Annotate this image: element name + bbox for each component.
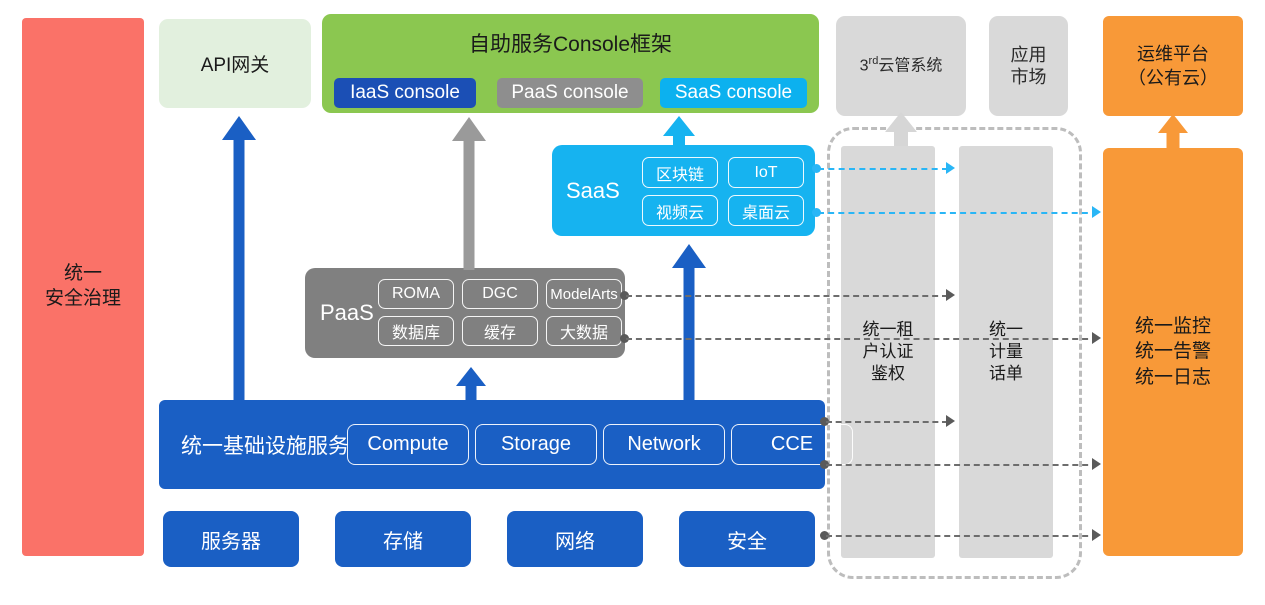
infra-item-storage[interactable]: Storage bbox=[475, 424, 597, 465]
flow-arrowhead-infra-auth bbox=[946, 415, 955, 427]
paas-item-cache[interactable]: 缓存 bbox=[462, 316, 538, 346]
metering-line3: 话单 bbox=[989, 363, 1023, 385]
api-gateway-box[interactable]: API网关 bbox=[159, 19, 311, 108]
infra-item-cce[interactable]: CCE bbox=[731, 424, 853, 465]
ops-body-line2: 统一告警 bbox=[1135, 339, 1211, 365]
third-party-cloud-mgmt-box[interactable]: 3rd云管系统 bbox=[836, 16, 966, 116]
infra-block-label: 统一基础设施服务 bbox=[181, 400, 349, 489]
arrow-ops-body-to-header bbox=[1157, 114, 1189, 150]
saas-item-video-cloud-label: 视频云 bbox=[656, 199, 704, 223]
security-label-line1: 统一 bbox=[64, 262, 102, 287]
paas-item-dgc-label: DGC bbox=[482, 285, 518, 303]
arrow-paas-to-console bbox=[452, 117, 486, 270]
flow-arrowhead-paas-auth bbox=[946, 289, 955, 301]
tenant-auth-line2: 户认证 bbox=[863, 341, 914, 363]
arrow-infra-to-saas bbox=[672, 244, 706, 404]
flow-arrowhead-paas-ops bbox=[1092, 332, 1101, 344]
hardware-item-security[interactable]: 安全 bbox=[679, 511, 815, 567]
flow-infra-to-ops-platform bbox=[826, 464, 1098, 466]
saas-console-label: SaaS console bbox=[675, 82, 792, 104]
ops-platform-header-box[interactable]: 运维平台 （公有云） bbox=[1103, 16, 1243, 116]
paas-block: PaaS ROMA DGC ModelArts 数据库 缓存 大数据 bbox=[305, 268, 625, 358]
third-party-cloud-label: 3rd云管系统 bbox=[860, 55, 943, 76]
infra-item-network-label: Network bbox=[627, 433, 700, 456]
paas-item-roma-label: ROMA bbox=[392, 285, 440, 303]
paas-item-modelarts[interactable]: ModelArts bbox=[546, 279, 622, 309]
ops-platform-title-line2: （公有云） bbox=[1128, 66, 1218, 90]
infra-item-compute-label: Compute bbox=[367, 433, 448, 456]
hardware-item-server[interactable]: 服务器 bbox=[163, 511, 299, 567]
unified-tenant-auth-column: 统一租 户认证 鉴权 bbox=[841, 146, 935, 558]
saas-item-desktop-cloud-label: 桌面云 bbox=[742, 199, 790, 223]
saas-item-blockchain-label: 区块链 bbox=[656, 161, 704, 185]
saas-item-blockchain[interactable]: 区块链 bbox=[642, 157, 718, 188]
ops-body-line1: 统一监控 bbox=[1135, 314, 1211, 340]
hardware-item-server-label: 服务器 bbox=[201, 525, 261, 554]
iaas-console-chip[interactable]: IaaS console bbox=[334, 78, 476, 108]
paas-item-database[interactable]: 数据库 bbox=[378, 316, 454, 346]
saas-item-iot-label: IoT bbox=[754, 164, 777, 182]
ops-platform-body-column: 统一监控 统一告警 统一日志 bbox=[1103, 148, 1243, 556]
paas-item-dgc[interactable]: DGC bbox=[462, 279, 538, 309]
self-service-console-frame: 自助服务Console框架 IaaS console PaaS console … bbox=[322, 14, 819, 113]
saas-item-iot[interactable]: IoT bbox=[728, 157, 804, 188]
saas-console-chip[interactable]: SaaS console bbox=[660, 78, 807, 108]
console-frame-title: 自助服务Console框架 bbox=[322, 28, 819, 58]
flow-paas-to-tenant-auth bbox=[626, 295, 948, 297]
flow-infra-to-tenant-auth bbox=[826, 421, 948, 423]
hardware-item-storage[interactable]: 存储 bbox=[335, 511, 471, 567]
unified-infrastructure-block: 统一基础设施服务 Compute Storage Network CCE bbox=[159, 400, 825, 489]
arrow-infra-to-paas bbox=[456, 367, 486, 403]
unified-metering-column: 统一 计量 话单 bbox=[959, 146, 1053, 558]
flow-saas-to-tenant-auth bbox=[818, 168, 948, 170]
flow-arrowhead-saas-auth bbox=[946, 162, 955, 174]
infra-item-network[interactable]: Network bbox=[603, 424, 725, 465]
paas-console-chip[interactable]: PaaS console bbox=[497, 78, 643, 108]
hardware-item-security-label: 安全 bbox=[727, 525, 767, 554]
tenant-auth-line3: 鉴权 bbox=[871, 363, 905, 385]
flow-arrowhead-saas-ops bbox=[1092, 206, 1101, 218]
saas-item-video-cloud[interactable]: 视频云 bbox=[642, 195, 718, 226]
metering-line2: 计量 bbox=[989, 341, 1023, 363]
arrow-infra-to-api-gateway bbox=[222, 116, 256, 404]
app-market-box[interactable]: 应用 市场 bbox=[989, 16, 1068, 116]
hardware-item-storage-label: 存储 bbox=[383, 525, 423, 554]
paas-item-database-label: 数据库 bbox=[392, 319, 440, 343]
infra-item-cce-label: CCE bbox=[771, 433, 813, 456]
flow-arrowhead-hardware-ops bbox=[1092, 529, 1101, 541]
paas-item-roma[interactable]: ROMA bbox=[378, 279, 454, 309]
saas-item-desktop-cloud[interactable]: 桌面云 bbox=[728, 195, 804, 226]
flow-arrowhead-infra-ops bbox=[1092, 458, 1101, 470]
arrow-shared-to-third-party-cloud bbox=[885, 112, 917, 146]
ops-body-line3: 统一日志 bbox=[1135, 365, 1211, 391]
architecture-diagram: 统一 安全治理 API网关 自助服务Console框架 IaaS console… bbox=[0, 0, 1265, 605]
saas-block: SaaS 区块链 IoT 视频云 桌面云 bbox=[552, 145, 815, 236]
hardware-item-network-label: 网络 bbox=[555, 525, 595, 554]
flow-saas-to-ops-platform bbox=[818, 212, 1098, 214]
paas-console-label: PaaS console bbox=[511, 82, 628, 104]
hardware-item-network[interactable]: 网络 bbox=[507, 511, 643, 567]
security-label-line2: 安全治理 bbox=[45, 287, 121, 312]
flow-hardware-to-ops-platform bbox=[826, 535, 1098, 537]
paas-item-bigdata[interactable]: 大数据 bbox=[546, 316, 622, 346]
paas-item-cache-label: 缓存 bbox=[484, 319, 516, 343]
ops-platform-title-line1: 运维平台 bbox=[1137, 42, 1209, 66]
flow-paas-to-ops-platform bbox=[626, 338, 1098, 340]
unified-security-governance-column: 统一 安全治理 bbox=[22, 18, 144, 556]
paas-item-bigdata-label: 大数据 bbox=[560, 319, 608, 343]
paas-block-label: PaaS bbox=[320, 268, 374, 358]
iaas-console-label: IaaS console bbox=[350, 82, 460, 104]
app-market-line1: 应用 bbox=[1011, 44, 1047, 67]
app-market-line2: 市场 bbox=[1011, 66, 1047, 89]
arrow-saas-to-console bbox=[663, 116, 695, 148]
saas-block-label: SaaS bbox=[566, 145, 620, 236]
infra-item-storage-label: Storage bbox=[501, 433, 571, 456]
paas-item-modelarts-label: ModelArts bbox=[550, 286, 618, 303]
api-gateway-label: API网关 bbox=[201, 50, 270, 77]
infra-item-compute[interactable]: Compute bbox=[347, 424, 469, 465]
